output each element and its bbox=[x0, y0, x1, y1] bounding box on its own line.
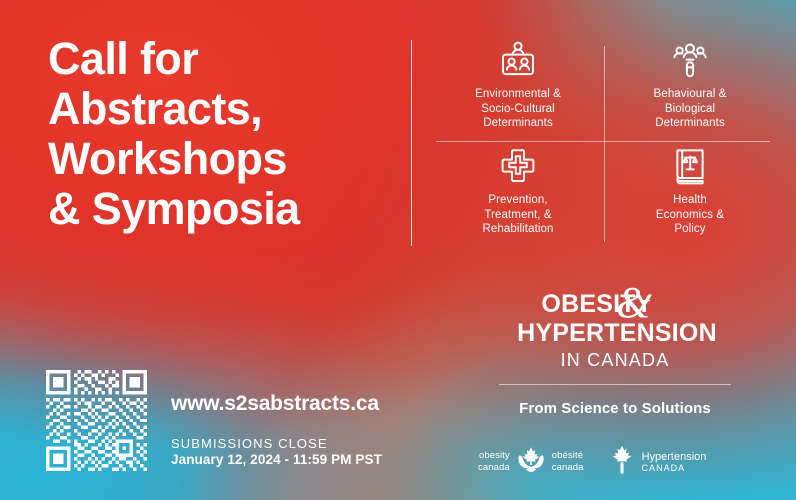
topic-label-line-3: Rehabilitation bbox=[482, 223, 553, 235]
maple-leaf-hands-icon bbox=[514, 446, 548, 479]
partner-logos: obesity canada obésité canada bbox=[478, 440, 764, 484]
people-group-icon bbox=[498, 38, 538, 82]
page-title: Call for Abstracts, Workshops & Symposia bbox=[48, 34, 398, 234]
headline-line-2: Abstracts, bbox=[48, 84, 398, 134]
book-scales-icon bbox=[672, 144, 708, 188]
brand-ampersand: & bbox=[616, 281, 650, 325]
brand-tagline: From Science to Solutions bbox=[470, 400, 760, 417]
topic-prevention-treatment-rehabilitation: Prevention, Treatment, & Rehabilitation bbox=[432, 142, 604, 248]
qr-code[interactable] bbox=[46, 370, 147, 471]
people-dna-icon bbox=[670, 38, 710, 82]
topic-label-line-2: Socio-Cultural bbox=[481, 103, 555, 115]
obesity-canada-wordmark-en: obesity canada bbox=[478, 450, 510, 473]
topic-label: Environmental & Socio-Cultural Determina… bbox=[475, 87, 561, 131]
topic-behavioural-biological: Behavioural & Biological Determinants bbox=[604, 36, 776, 142]
topic-label-line-1: Prevention, bbox=[488, 194, 547, 206]
logo-hypertension-canada: Hypertension CANADA bbox=[608, 445, 707, 480]
headline-line-4: & Symposia bbox=[48, 184, 398, 234]
topic-label-line-3: Determinants bbox=[483, 117, 553, 129]
logo-obesity-canada: obesity canada obésité canada bbox=[478, 446, 584, 479]
topic-grid-horizontal-divider bbox=[436, 141, 770, 142]
topic-label-line-2: Treatment, & bbox=[484, 209, 551, 221]
headline-line-1: Call for bbox=[48, 34, 398, 84]
promotional-poster: Call for Abstracts, Workshops & Symposia… bbox=[0, 0, 796, 500]
topic-environmental-socio-cultural: Environmental & Socio-Cultural Determina… bbox=[432, 36, 604, 142]
topic-label-line-2: Economics & bbox=[656, 209, 724, 221]
submissions-close-date: January 12, 2024 - 11:59 PM PST bbox=[171, 452, 382, 467]
topic-label-line-1: Health bbox=[673, 194, 707, 206]
brand-line-in-canada: IN CANADA bbox=[470, 351, 760, 369]
obesity-canada-wordmark-fr: obésité canada bbox=[552, 450, 584, 473]
topic-label-line-3: Policy bbox=[674, 223, 705, 235]
topic-label: Health Economics & Policy bbox=[656, 193, 724, 237]
submission-url[interactable]: www.s2sabstracts.ca bbox=[171, 392, 379, 416]
topic-label-line-1: Behavioural & bbox=[654, 88, 727, 100]
brand-line-obesity: OBESITY bbox=[452, 292, 742, 317]
vertical-divider bbox=[411, 40, 412, 246]
submissions-close-label: SUBMISSIONS CLOSE bbox=[171, 436, 328, 451]
topic-label: Behavioural & Biological Determinants bbox=[654, 87, 727, 131]
headline-line-3: Workshops bbox=[48, 134, 398, 184]
event-brand: OBESITY HYPERTENSION & IN CANADA From Sc… bbox=[470, 292, 760, 417]
topic-health-economics-policy: Health Economics & Policy bbox=[604, 142, 776, 248]
brand-divider bbox=[499, 384, 731, 385]
topic-label-line-2: Biological bbox=[665, 103, 715, 115]
medical-cross-icon bbox=[499, 144, 537, 188]
topic-label-line-1: Environmental & bbox=[475, 88, 561, 100]
topic-label-line-3: Determinants bbox=[655, 117, 725, 129]
maple-leaf-person-icon bbox=[608, 445, 636, 480]
hypertension-canada-wordmark: Hypertension CANADA bbox=[642, 451, 707, 474]
topic-label: Prevention, Treatment, & Rehabilitation bbox=[482, 193, 553, 237]
topic-grid-vertical-divider bbox=[604, 46, 605, 242]
